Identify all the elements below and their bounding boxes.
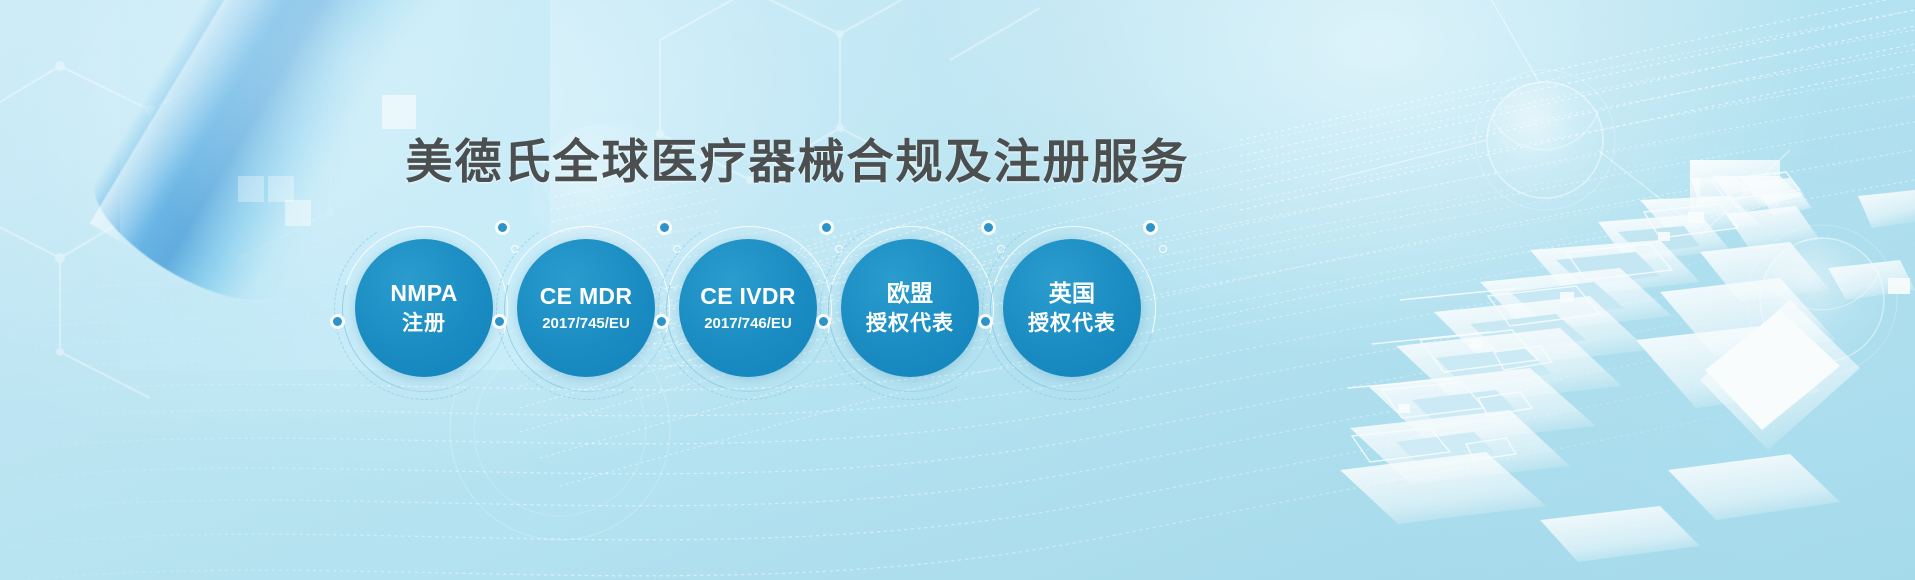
badge-line1: CE IVDR <box>700 282 795 310</box>
orbit-node-dot-icon <box>495 317 504 326</box>
badge-row: NMPA 注册 CE MDR 2017/745/EU CE IVDR 2017/ <box>355 233 1235 383</box>
geometric-shapes <box>1340 160 1915 562</box>
orbit-node-ring-icon <box>1159 245 1167 253</box>
orbit-node-dot-icon <box>498 223 507 232</box>
orbit-node-dot-icon <box>984 223 993 232</box>
orbit-node-dot-icon <box>657 317 666 326</box>
badge-disc[interactable]: 英国 授权代表 <box>1003 239 1141 377</box>
decorative-square <box>285 200 311 226</box>
orbit-node-dot-icon <box>981 317 990 326</box>
badge-eu-rep[interactable]: 欧盟 授权代表 <box>841 239 979 377</box>
badge-ce-mdr[interactable]: CE MDR 2017/745/EU <box>517 239 655 377</box>
badge-line2: 2017/745/EU <box>542 315 630 333</box>
badge-line2: 授权代表 <box>1028 311 1116 337</box>
badge-disc[interactable]: CE MDR 2017/745/EU <box>517 239 655 377</box>
badge-line2: 2017/746/EU <box>704 315 792 333</box>
badge-uk-rep[interactable]: 英国 授权代表 <box>1003 239 1141 377</box>
badge-disc[interactable]: 欧盟 授权代表 <box>841 239 979 377</box>
orbit-node-dot-icon <box>660 223 669 232</box>
orbit-node-dot-icon <box>822 223 831 232</box>
badge-line1: NMPA <box>390 279 457 307</box>
badge-disc[interactable]: CE IVDR 2017/746/EU <box>679 239 817 377</box>
orbit-node-dot-icon <box>333 317 342 326</box>
orbit-node-dot-icon <box>1146 223 1155 232</box>
page-title: 美德氏全球医疗器械合规及注册服务 <box>0 123 1915 192</box>
badge-disc[interactable]: NMPA 注册 <box>355 239 493 377</box>
badge-line2: 注册 <box>402 311 446 337</box>
badge-line1: CE MDR <box>540 282 633 310</box>
hero-banner: 美德氏全球医疗器械合规及注册服务 NMPA 注册 CE MDR 2017/745… <box>0 0 1915 580</box>
orbit-node-dot-icon <box>819 317 828 326</box>
badge-nmpa[interactable]: NMPA 注册 <box>355 239 493 377</box>
badge-line2: 授权代表 <box>866 311 954 337</box>
badge-line1: 英国 <box>1049 279 1096 307</box>
badge-ce-ivdr[interactable]: CE IVDR 2017/746/EU <box>679 239 817 377</box>
badge-line1: 欧盟 <box>887 279 934 307</box>
